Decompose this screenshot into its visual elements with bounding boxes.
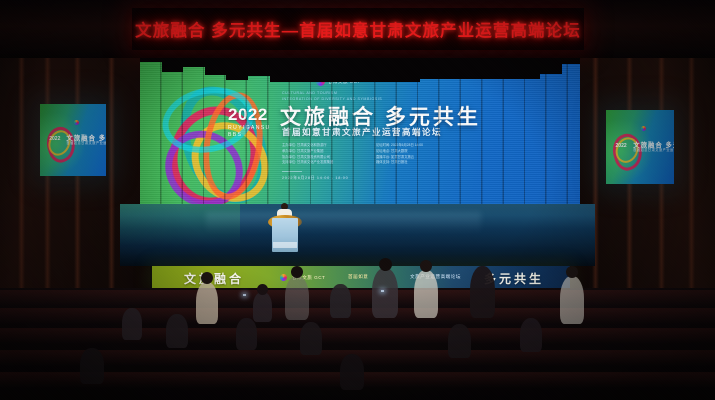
audience-member (448, 324, 471, 358)
front-strip-logo-icon (280, 274, 287, 281)
audience-member-head (257, 284, 268, 295)
audience-member-head (379, 258, 392, 271)
seat-row (0, 308, 715, 324)
side-panel-surface-right: 2022 文旅融合 多元共生 首届如意甘肃文旅产业运营高端论坛 (606, 110, 674, 184)
audience-member (300, 322, 322, 355)
screen-top-cut (226, 58, 248, 80)
ribbon-graphic (160, 80, 286, 200)
audience-member (166, 314, 188, 348)
side-panel-year-left: 2022 (49, 136, 60, 142)
screen-top-cut (420, 58, 540, 79)
audience-member-head (291, 266, 303, 278)
audience-seating-area (0, 288, 715, 400)
side-panel-subtitle-left: 首届如意甘肃文旅产业运营高端论坛 (66, 140, 106, 145)
floor-sheen (206, 212, 482, 234)
front-strip-left-text: 文旅融合 (184, 270, 244, 287)
audience-member (330, 284, 351, 318)
screen-top-cut (205, 58, 226, 75)
screen-top-cut (183, 58, 205, 67)
screen-top-cut (162, 58, 183, 72)
camera-screen-glow (243, 294, 246, 296)
side-panel-year-right: 2022 (616, 143, 627, 149)
audience-member (253, 292, 272, 322)
credit-line: 媒体支持: 甘肃日报社 (376, 160, 423, 166)
camera-screen-glow (381, 290, 384, 292)
screen-subtitle: 首届如意甘肃文旅产业运营高端论坛 (282, 126, 442, 138)
divider-rule (282, 171, 302, 172)
audience-member (236, 318, 257, 350)
screen-top-cut (562, 58, 580, 64)
side-led-panel-right: 2022 文旅融合 多元共生 首届如意甘肃文旅产业运营高端论坛 (606, 110, 674, 184)
audience-member (196, 282, 218, 324)
audience-member (414, 270, 438, 318)
seat-row (0, 290, 715, 306)
podium-label (273, 242, 297, 248)
side-panel-logo-icon-right (641, 126, 646, 131)
side-panel-subtitle-right: 首届如意甘肃文旅产业运营高端论坛 (633, 147, 674, 152)
seat-row (0, 328, 715, 344)
audience-member (560, 276, 584, 324)
audience-member (372, 268, 398, 318)
credit-line: 主办单位: 甘肃省文化和旅游厅 (282, 143, 333, 149)
year-number: 2022 (228, 106, 271, 123)
year-subtitle-2: BBS (228, 133, 271, 138)
front-strip-mid-text-2: 首届如意 (348, 274, 368, 280)
audience-member-head (566, 266, 578, 278)
audience-member-head (420, 260, 432, 272)
audience-member (285, 276, 309, 320)
year-block: 2022 RUYIGANSU BBS (228, 106, 271, 138)
podium (272, 218, 298, 252)
screen-top-cut (270, 58, 420, 82)
stage-front-led-strip: 文旅融合 甘肃文旅 GCT 首届如意 文旅产业运营高端论坛 多元共生 (152, 266, 570, 289)
side-panel-surface-left: 2022 文旅融合 多元共生 首届如意甘肃文旅产业运营高端论坛 (40, 104, 106, 176)
credits-column-left: 主办单位: 甘肃省文化和旅游厅 承办单位: 甘肃文旅产业集团 协办单位: 甘肃文… (282, 143, 333, 166)
audience-member (122, 308, 142, 340)
audience-member (520, 318, 542, 352)
screen-top-cut (248, 58, 270, 76)
credit-line: 支持单位: 甘肃省文化产业发展集团 (282, 160, 333, 166)
stage-floor (120, 204, 595, 266)
screen-top-cut (540, 58, 562, 74)
screen-top-cut (140, 58, 162, 62)
credits-column-right: 论坛时间: 2022年6月28日 14:00 论坛地点: 甘肃大剧院 直播平台:… (376, 143, 423, 166)
side-led-panel-left: 2022 文旅融合 多元共生 首届如意甘肃文旅产业运营高端论坛 (40, 104, 106, 176)
main-led-screen: 2022 RUYIGANSU BBS 甘肃文旅 GCT CULTURAL AND… (140, 58, 580, 204)
audience-member (80, 348, 104, 384)
year-subtitle: RUYIGANSU (228, 126, 271, 131)
stage-photograph: 文旅融合 多元共生—首届如意甘肃文旅产业运营高端论坛 2022 RUYIGANS… (0, 0, 715, 400)
audience-member (470, 266, 495, 318)
led-marquee-banner: 文旅融合 多元共生—首届如意甘肃文旅产业运营高端论坛 (132, 8, 584, 50)
audience-member-head (201, 272, 213, 284)
marquee-text: 文旅融合 多元共生—首届如意甘肃文旅产业运营高端论坛 (135, 17, 581, 41)
event-date-line: 2022年6月28日 14:00 - 18:00 (282, 176, 348, 181)
audience-member (340, 354, 364, 390)
side-panel-logo-icon-left (74, 120, 79, 125)
credit-line: 论坛时间: 2022年6月28日 14:00 (376, 143, 423, 149)
